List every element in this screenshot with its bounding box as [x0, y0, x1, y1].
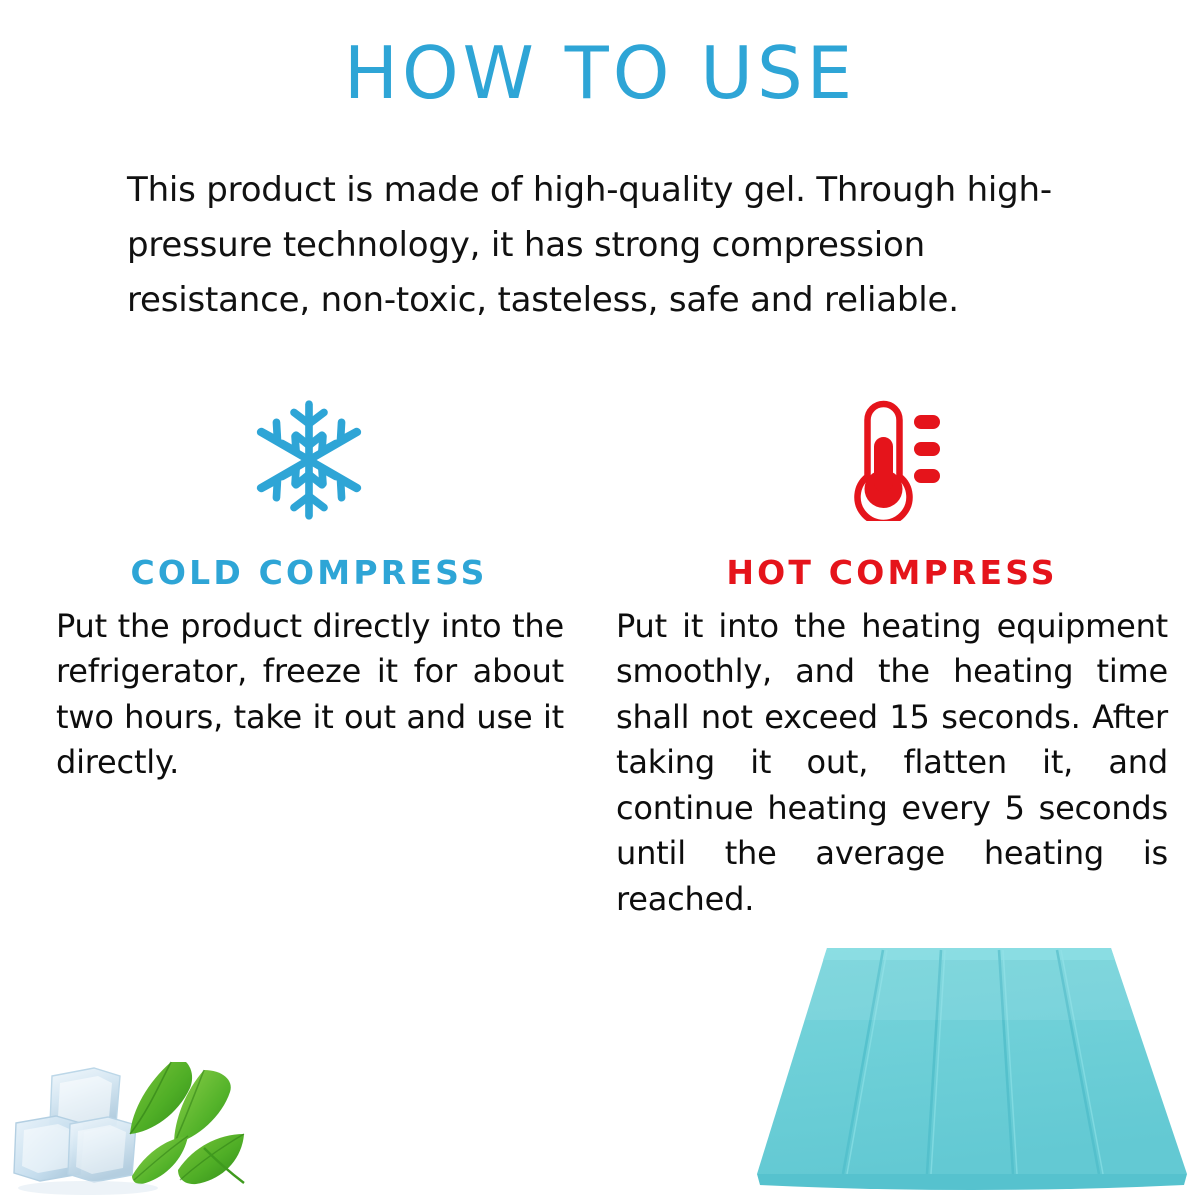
- page-title: HOW TO USE: [0, 34, 1200, 113]
- thermometer-icon: [836, 399, 948, 521]
- hot-compress-section: HOT COMPRESS Put it into the heating equ…: [612, 395, 1172, 922]
- mint-leaf-lower-left: [132, 1136, 188, 1184]
- hot-compress-heading: HOT COMPRESS: [612, 553, 1172, 592]
- snowflake-icon-wrapper: [44, 395, 574, 525]
- ice-cubes-mint-photo: [8, 1028, 276, 1200]
- cold-compress-body: Put the product directly into the refrig…: [56, 604, 564, 786]
- cold-compress-section: COLD COMPRESS Put the product directly i…: [44, 395, 574, 786]
- ice-cube-right: [68, 1117, 136, 1182]
- snowflake-icon: [246, 398, 372, 522]
- mat-sheen: [803, 948, 1135, 1020]
- thermometer-icon-wrapper: [612, 395, 1172, 525]
- intro-paragraph: This product is made of high-quality gel…: [127, 163, 1062, 328]
- hot-compress-body: Put it into the heating equipment smooth…: [616, 604, 1168, 922]
- gel-cooling-mat-photo: [735, 912, 1200, 1200]
- ice-reflection: [18, 1181, 158, 1195]
- cold-compress-heading: COLD COMPRESS: [44, 553, 574, 592]
